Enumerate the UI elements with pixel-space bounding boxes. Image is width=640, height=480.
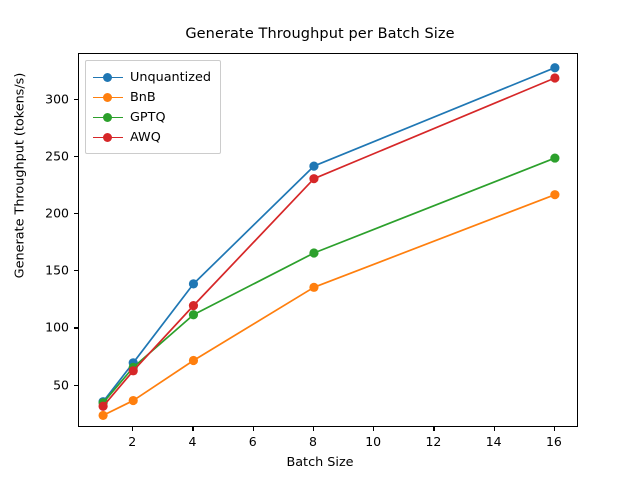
y-axis-label: Generate Throughput (tokens/s) [13, 0, 28, 356]
y-tick-mark [74, 327, 78, 328]
legend-item: Unquantized [93, 67, 211, 87]
data-point-marker [309, 174, 318, 183]
y-tick-label: 150 [0, 263, 69, 278]
data-point-marker [129, 396, 138, 405]
x-tick-mark [313, 427, 314, 431]
legend-swatch-icon [93, 129, 123, 145]
x-tick-label: 16 [546, 434, 562, 449]
y-tick-label: 300 [0, 91, 69, 106]
data-point-marker [550, 190, 559, 199]
data-point-marker [129, 366, 138, 375]
legend-swatch-icon [93, 89, 123, 105]
x-tick-mark [132, 427, 133, 431]
data-point-marker [189, 279, 198, 288]
data-point-marker [99, 411, 108, 420]
x-tick-mark [192, 427, 193, 431]
data-point-marker [550, 153, 559, 162]
x-tick-mark [373, 427, 374, 431]
series-line [103, 158, 555, 403]
x-tick-mark [433, 427, 434, 431]
x-tick-label: 12 [425, 434, 441, 449]
data-point-marker [189, 301, 198, 310]
y-tick-mark [74, 270, 78, 271]
x-tick-label: 14 [486, 434, 502, 449]
legend-item: AWQ [93, 127, 211, 147]
x-axis-label: Batch Size [0, 455, 640, 470]
series-gptq [99, 153, 560, 407]
chart-legend: UnquantizedBnBGPTQAWQ [85, 60, 221, 154]
series-bnb [99, 190, 560, 420]
x-tick-label: 6 [249, 434, 257, 449]
x-tick-mark [554, 427, 555, 431]
x-tick-label: 8 [309, 434, 317, 449]
y-tick-label: 100 [0, 320, 69, 335]
data-point-marker [309, 161, 318, 170]
legend-item: GPTQ [93, 107, 211, 127]
chart-title: Generate Throughput per Batch Size [0, 26, 640, 42]
data-point-marker [309, 283, 318, 292]
data-point-marker [550, 73, 559, 82]
data-point-marker [309, 248, 318, 257]
legend-item-label: AWQ [130, 130, 161, 145]
legend-item-label: BnB [130, 90, 156, 105]
y-tick-mark [74, 156, 78, 157]
series-line [103, 195, 555, 416]
data-point-marker [189, 310, 198, 319]
legend-item-label: GPTQ [130, 110, 166, 125]
x-tick-mark [253, 427, 254, 431]
y-tick-label: 200 [0, 206, 69, 221]
y-tick-label: 250 [0, 148, 69, 163]
y-tick-label: 50 [0, 377, 69, 392]
data-point-marker [189, 356, 198, 365]
legend-item-label: Unquantized [130, 70, 211, 85]
x-tick-label: 2 [128, 434, 136, 449]
y-tick-mark [74, 213, 78, 214]
legend-swatch-icon [93, 109, 123, 125]
x-tick-mark [494, 427, 495, 431]
legend-swatch-icon [93, 69, 123, 85]
x-tick-label: 10 [365, 434, 381, 449]
x-tick-label: 4 [188, 434, 196, 449]
data-point-marker [550, 63, 559, 72]
data-point-marker [99, 402, 108, 411]
chart-figure: Generate Throughput per Batch Size 50100… [0, 0, 640, 480]
legend-item: BnB [93, 87, 211, 107]
y-tick-mark [74, 385, 78, 386]
y-tick-mark [74, 99, 78, 100]
